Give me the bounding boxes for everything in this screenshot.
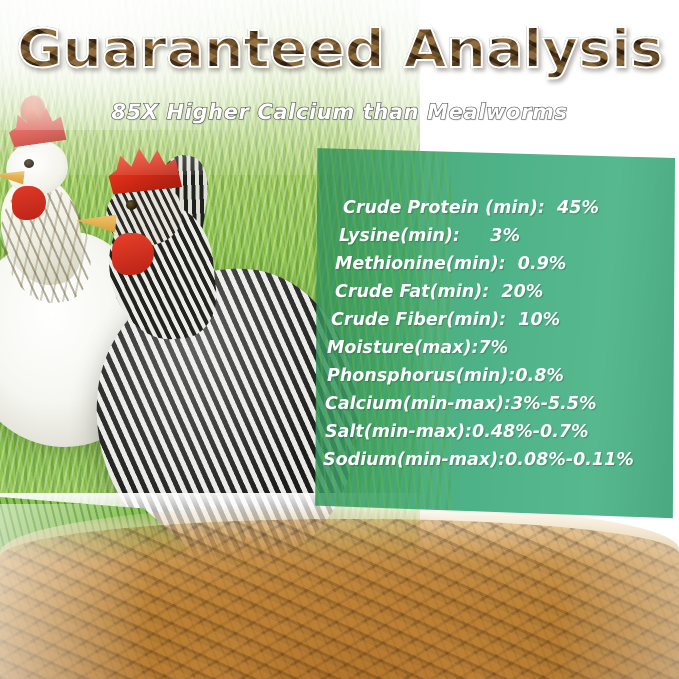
nutrient-row: Sodium(min-max):0.08%-0.11%	[313, 446, 675, 474]
headline-container: Guaranteed Analysis	[0, 22, 679, 77]
page-subtitle: 85X Higher Calcium than Mealworms	[111, 100, 567, 124]
white-chicken-neck	[0, 171, 88, 292]
nutrient-row: Salt(min-max):0.48%-0.7%	[313, 418, 675, 446]
white-chicken-beak	[0, 166, 25, 186]
barred-chicken-head	[102, 177, 186, 251]
nutrient-row: Crude Protein (min): 45%	[313, 194, 675, 222]
nutrient-list: Crude Protein (min): 45%Lysine(min): 3%M…	[313, 142, 675, 474]
nutrient-row: Lysine(min): 3%	[313, 222, 675, 250]
barred-chicken-comb-icon	[106, 143, 182, 194]
barred-chicken-beak	[75, 211, 116, 235]
barred-chicken-wattle	[112, 233, 154, 275]
nutrient-row: Phonsphorus(min):0.8%	[313, 362, 675, 390]
white-chicken-head	[2, 136, 72, 200]
nutrient-row: Crude Fat(min): 20%	[313, 278, 675, 306]
barred-chicken-neck	[103, 200, 221, 345]
nutrient-row: Methionine(min): 0.9%	[313, 250, 675, 278]
product-infographic: Guaranteed Analysis 85X Higher Calcium t…	[0, 0, 679, 679]
white-chicken-neck-speckles	[0, 180, 97, 310]
white-chicken-eye	[24, 159, 34, 168]
guaranteed-analysis-panel: Crude Protein (min): 45%Lysine(min): 3%M…	[313, 142, 675, 524]
white-chicken-wattle	[12, 186, 46, 220]
background-chicken-image	[145, 152, 212, 257]
nutrient-row: Calcium(min-max):3%-5.5%	[313, 390, 675, 418]
nutrient-row: Moisture(max):7%	[313, 334, 675, 362]
larvae-pile-texture	[0, 519, 679, 679]
nutrient-row: Crude Fiber(min): 10%	[313, 306, 675, 334]
subheadline-container: 85X Higher Calcium than Mealworms	[0, 100, 679, 124]
barred-chicken-eye	[126, 200, 137, 210]
white-chicken-body	[0, 232, 156, 447]
page-title: Guaranteed Analysis	[17, 22, 663, 77]
